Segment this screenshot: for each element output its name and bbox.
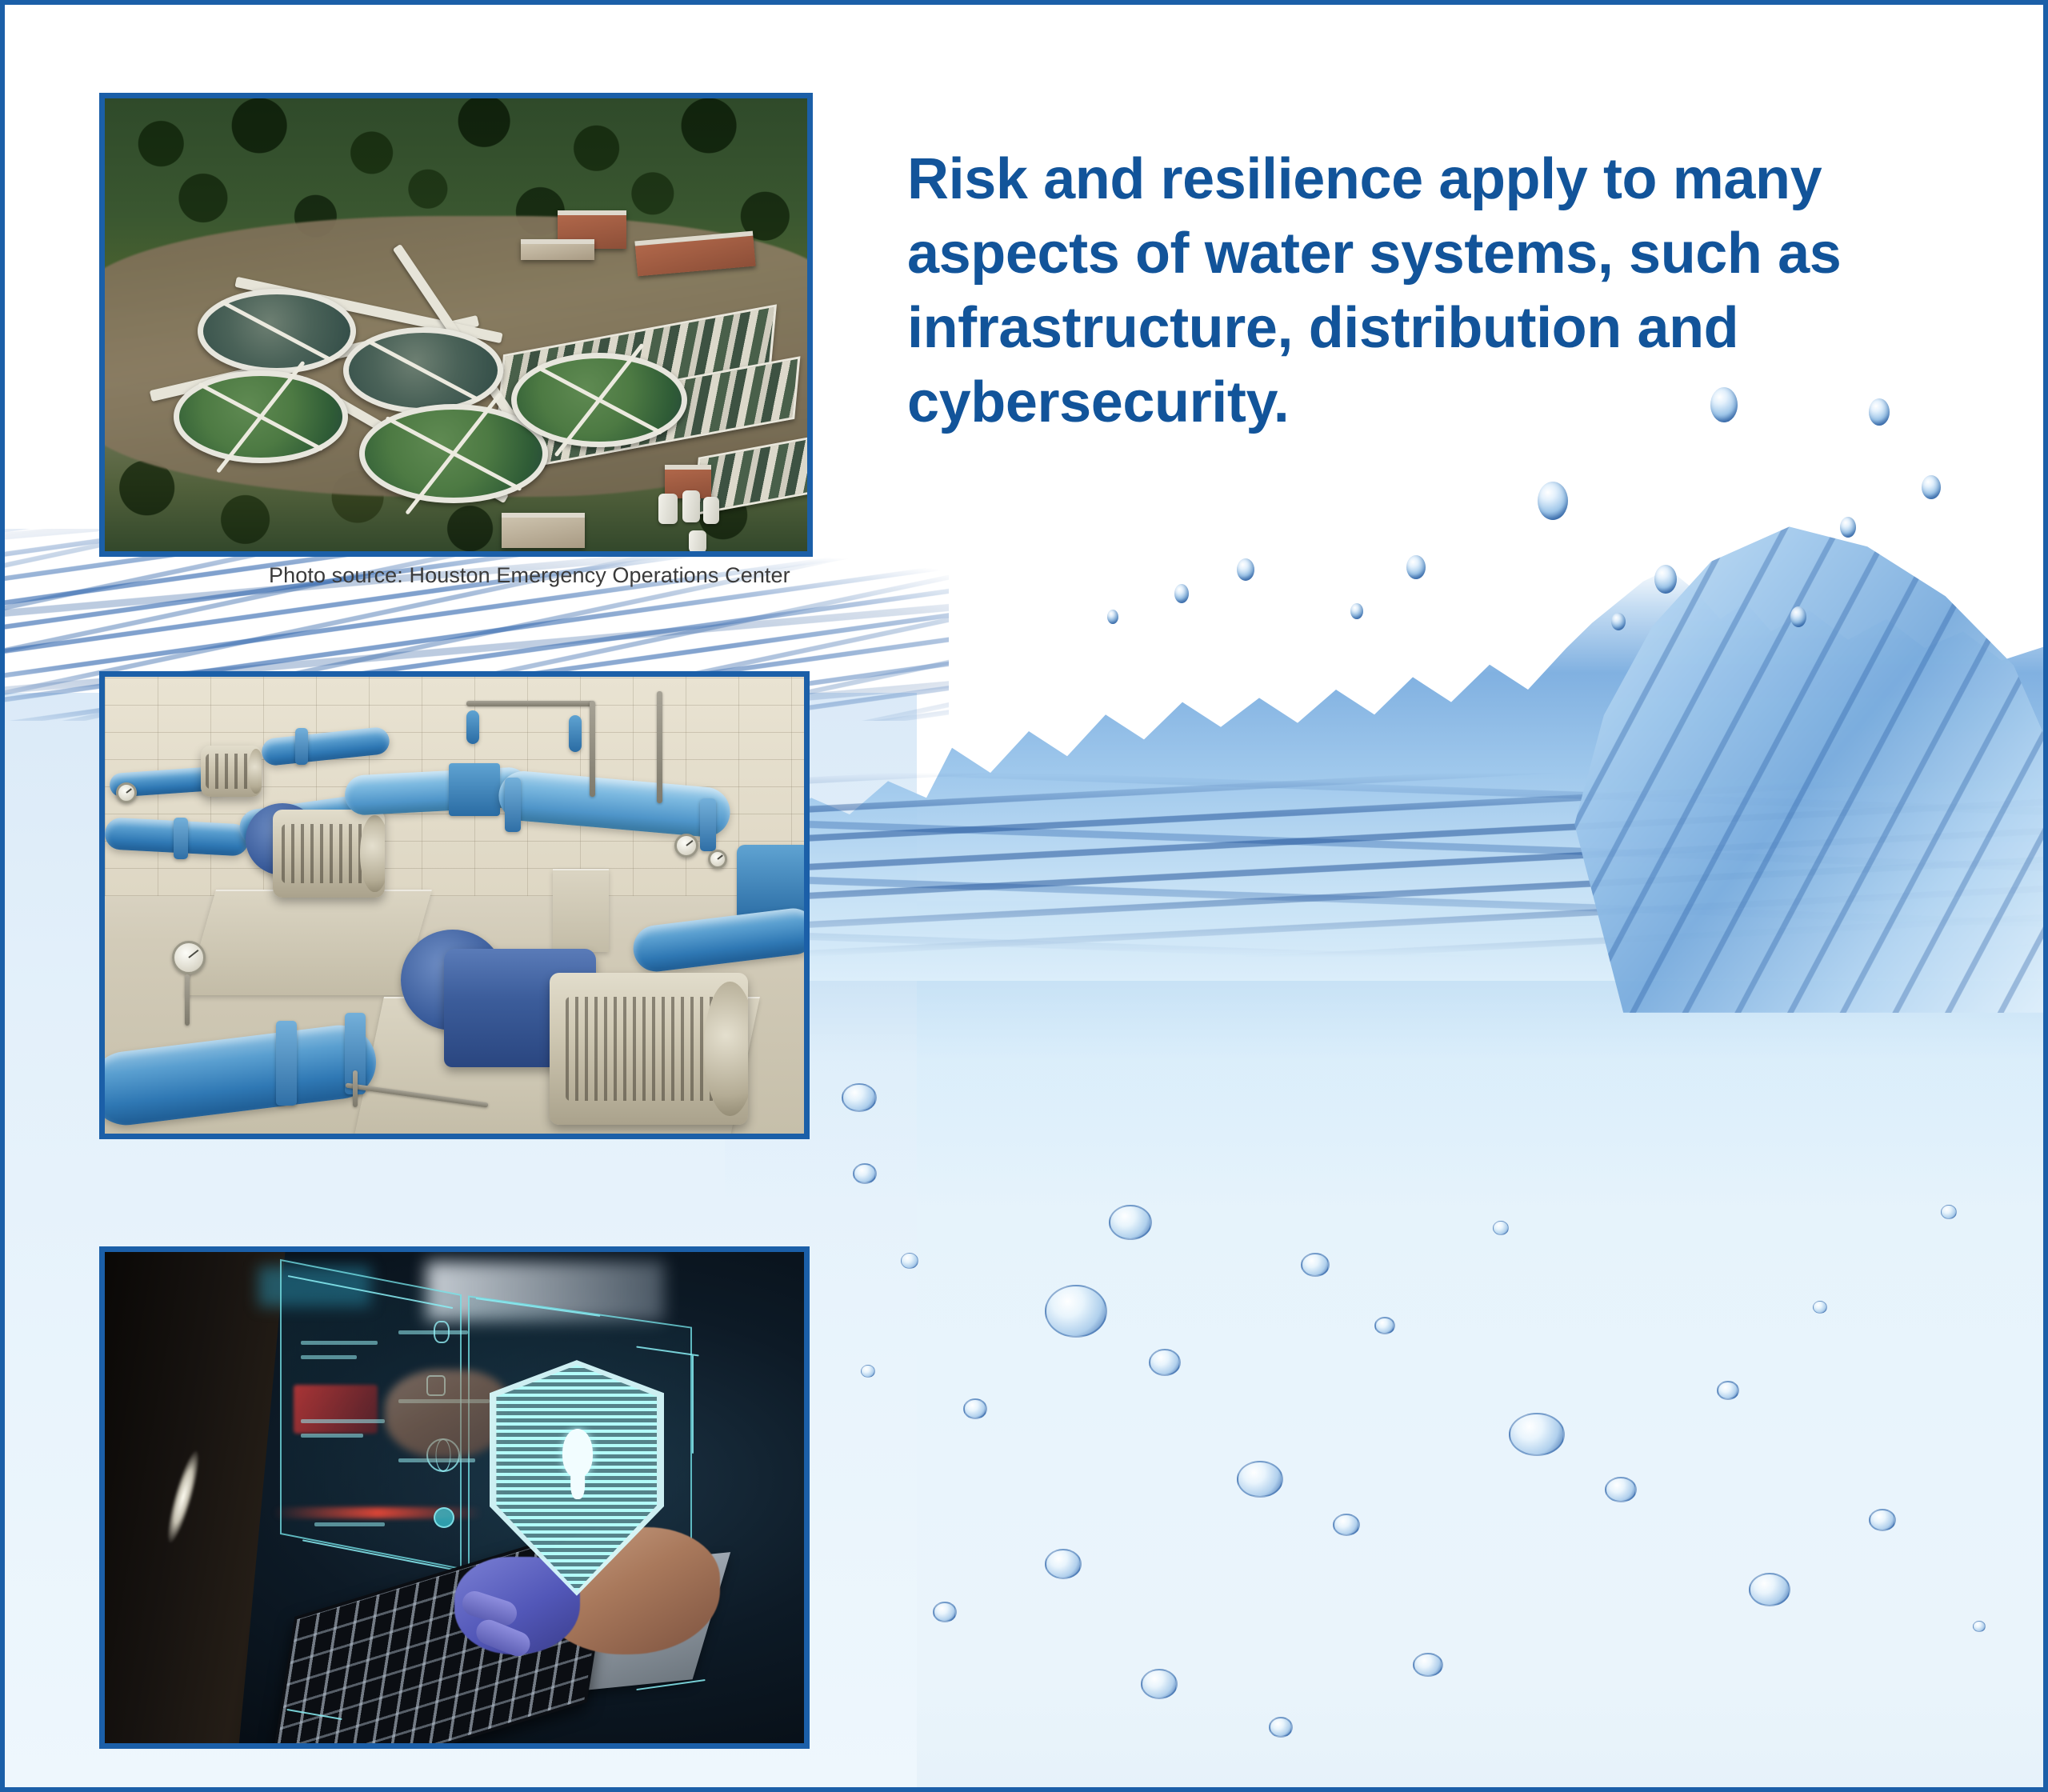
pressure-gauge: [116, 782, 137, 803]
clarifier-tank: [511, 353, 687, 447]
hud-corner-bracket: [692, 1355, 694, 1454]
pump-motor: [273, 810, 385, 898]
clarifier-arm: [405, 392, 502, 515]
motor-endbell: [704, 982, 748, 1115]
water-bubble: [963, 1398, 987, 1419]
water-droplet: [1840, 517, 1856, 538]
water-bubble: [861, 1365, 875, 1378]
hud-data-row: [301, 1355, 357, 1359]
water-droplet: [1107, 610, 1118, 624]
water-bubble: [1374, 1317, 1395, 1334]
water-droplet: [1611, 613, 1626, 630]
water-droplet: [1538, 482, 1568, 520]
water-bubble: [1301, 1253, 1330, 1277]
water-bubble: [1333, 1514, 1360, 1536]
water-bubble: [1509, 1413, 1565, 1456]
water-droplet: [1922, 475, 1941, 499]
water-droplet: [1237, 558, 1254, 581]
water-droplet: [1654, 565, 1677, 594]
water-bubble: [1141, 1669, 1178, 1699]
clarifier-arm: [366, 338, 481, 402]
water-bubble: [933, 1602, 957, 1622]
hud-data-row: [301, 1434, 364, 1438]
photo-pump-station-image: [105, 677, 804, 1134]
photo-cybersecurity-image: [105, 1252, 804, 1743]
photo-pump-station: [99, 671, 810, 1139]
water-bubble: [1493, 1221, 1509, 1235]
plant-building: [502, 513, 585, 548]
water-droplet: [1350, 603, 1363, 619]
motor-endbell: [360, 815, 385, 893]
photo-credit-caption: Photo source: Houston Emergency Operatio…: [269, 563, 790, 588]
water-pipe: [630, 906, 804, 974]
water-bubble: [1045, 1285, 1107, 1338]
water-bubble: [901, 1253, 918, 1269]
wall-conduit: [466, 701, 594, 706]
water-pipe: [105, 1021, 380, 1129]
concrete-pad: [553, 869, 609, 952]
photo-flooded-treatment-plant: [99, 93, 813, 557]
water-bubble: [1237, 1461, 1283, 1498]
pipe-flange: [174, 818, 188, 859]
clarifier-tank: [174, 370, 348, 463]
keyhole-icon: [562, 1429, 593, 1478]
pipe-flange: [295, 728, 308, 765]
clarifier-arm: [216, 360, 306, 473]
pipe-flange: [700, 798, 716, 851]
hud-data-row: [301, 1419, 385, 1423]
pressure-gauge: [708, 850, 727, 869]
water-bubble: [1813, 1301, 1827, 1314]
water-bubble: [1749, 1573, 1790, 1606]
instrument-tubing: [353, 1070, 358, 1107]
hud-data-row: [301, 1341, 378, 1345]
water-bubble: [1941, 1205, 1957, 1219]
water-droplet: [1174, 584, 1189, 603]
hud-data-row: [314, 1522, 384, 1526]
storage-tank: [658, 494, 678, 524]
air-release-valve: [569, 715, 582, 752]
slide-canvas: Risk and resilience apply to many aspect…: [0, 0, 2048, 1792]
gate-valve: [449, 763, 500, 816]
photo-flooded-treatment-plant-image: [105, 98, 807, 551]
hud-status-icon: [434, 1321, 450, 1343]
pump-motor: [550, 973, 748, 1125]
pipe-flange: [276, 1021, 297, 1106]
pressure-gauge: [172, 941, 206, 974]
clarifier-tank: [198, 289, 356, 374]
clarifier-arm: [554, 343, 644, 458]
storage-tank: [703, 497, 719, 524]
water-bubble: [1109, 1205, 1152, 1240]
clarifier-arm: [220, 300, 334, 363]
water-bubble: [1269, 1717, 1293, 1738]
motor-endbell: [248, 749, 262, 794]
hud-indicator-icon: [434, 1507, 454, 1528]
water-bubble: [1413, 1653, 1443, 1677]
headline-text: Risk and resilience apply to many aspect…: [907, 142, 2005, 440]
plant-building: [521, 239, 594, 260]
water-bubble: [1045, 1549, 1082, 1579]
pressure-gauge: [674, 834, 698, 858]
water-bubble: [1605, 1477, 1637, 1502]
air-release-valve: [466, 710, 479, 744]
storage-tank: [682, 490, 700, 522]
water-droplet: [1406, 555, 1426, 579]
water-bubble: [1149, 1349, 1181, 1376]
water-bubble: [1869, 1509, 1896, 1531]
wall-conduit: [590, 701, 595, 797]
photo-cybersecurity: [99, 1246, 810, 1749]
wall-conduit: [657, 691, 662, 803]
storage-tank: [689, 530, 706, 551]
water-bubble: [853, 1163, 877, 1184]
water-bubble: [842, 1083, 877, 1112]
water-bubble: [1717, 1381, 1739, 1400]
pipe-flange: [505, 778, 521, 832]
instrument-tubing: [185, 974, 190, 1026]
clarifier-tank: [343, 327, 503, 414]
concrete-pad: [186, 890, 432, 995]
water-bubble: [1973, 1621, 1986, 1632]
water-droplet: [1790, 606, 1806, 627]
pump-motor: [201, 746, 262, 797]
